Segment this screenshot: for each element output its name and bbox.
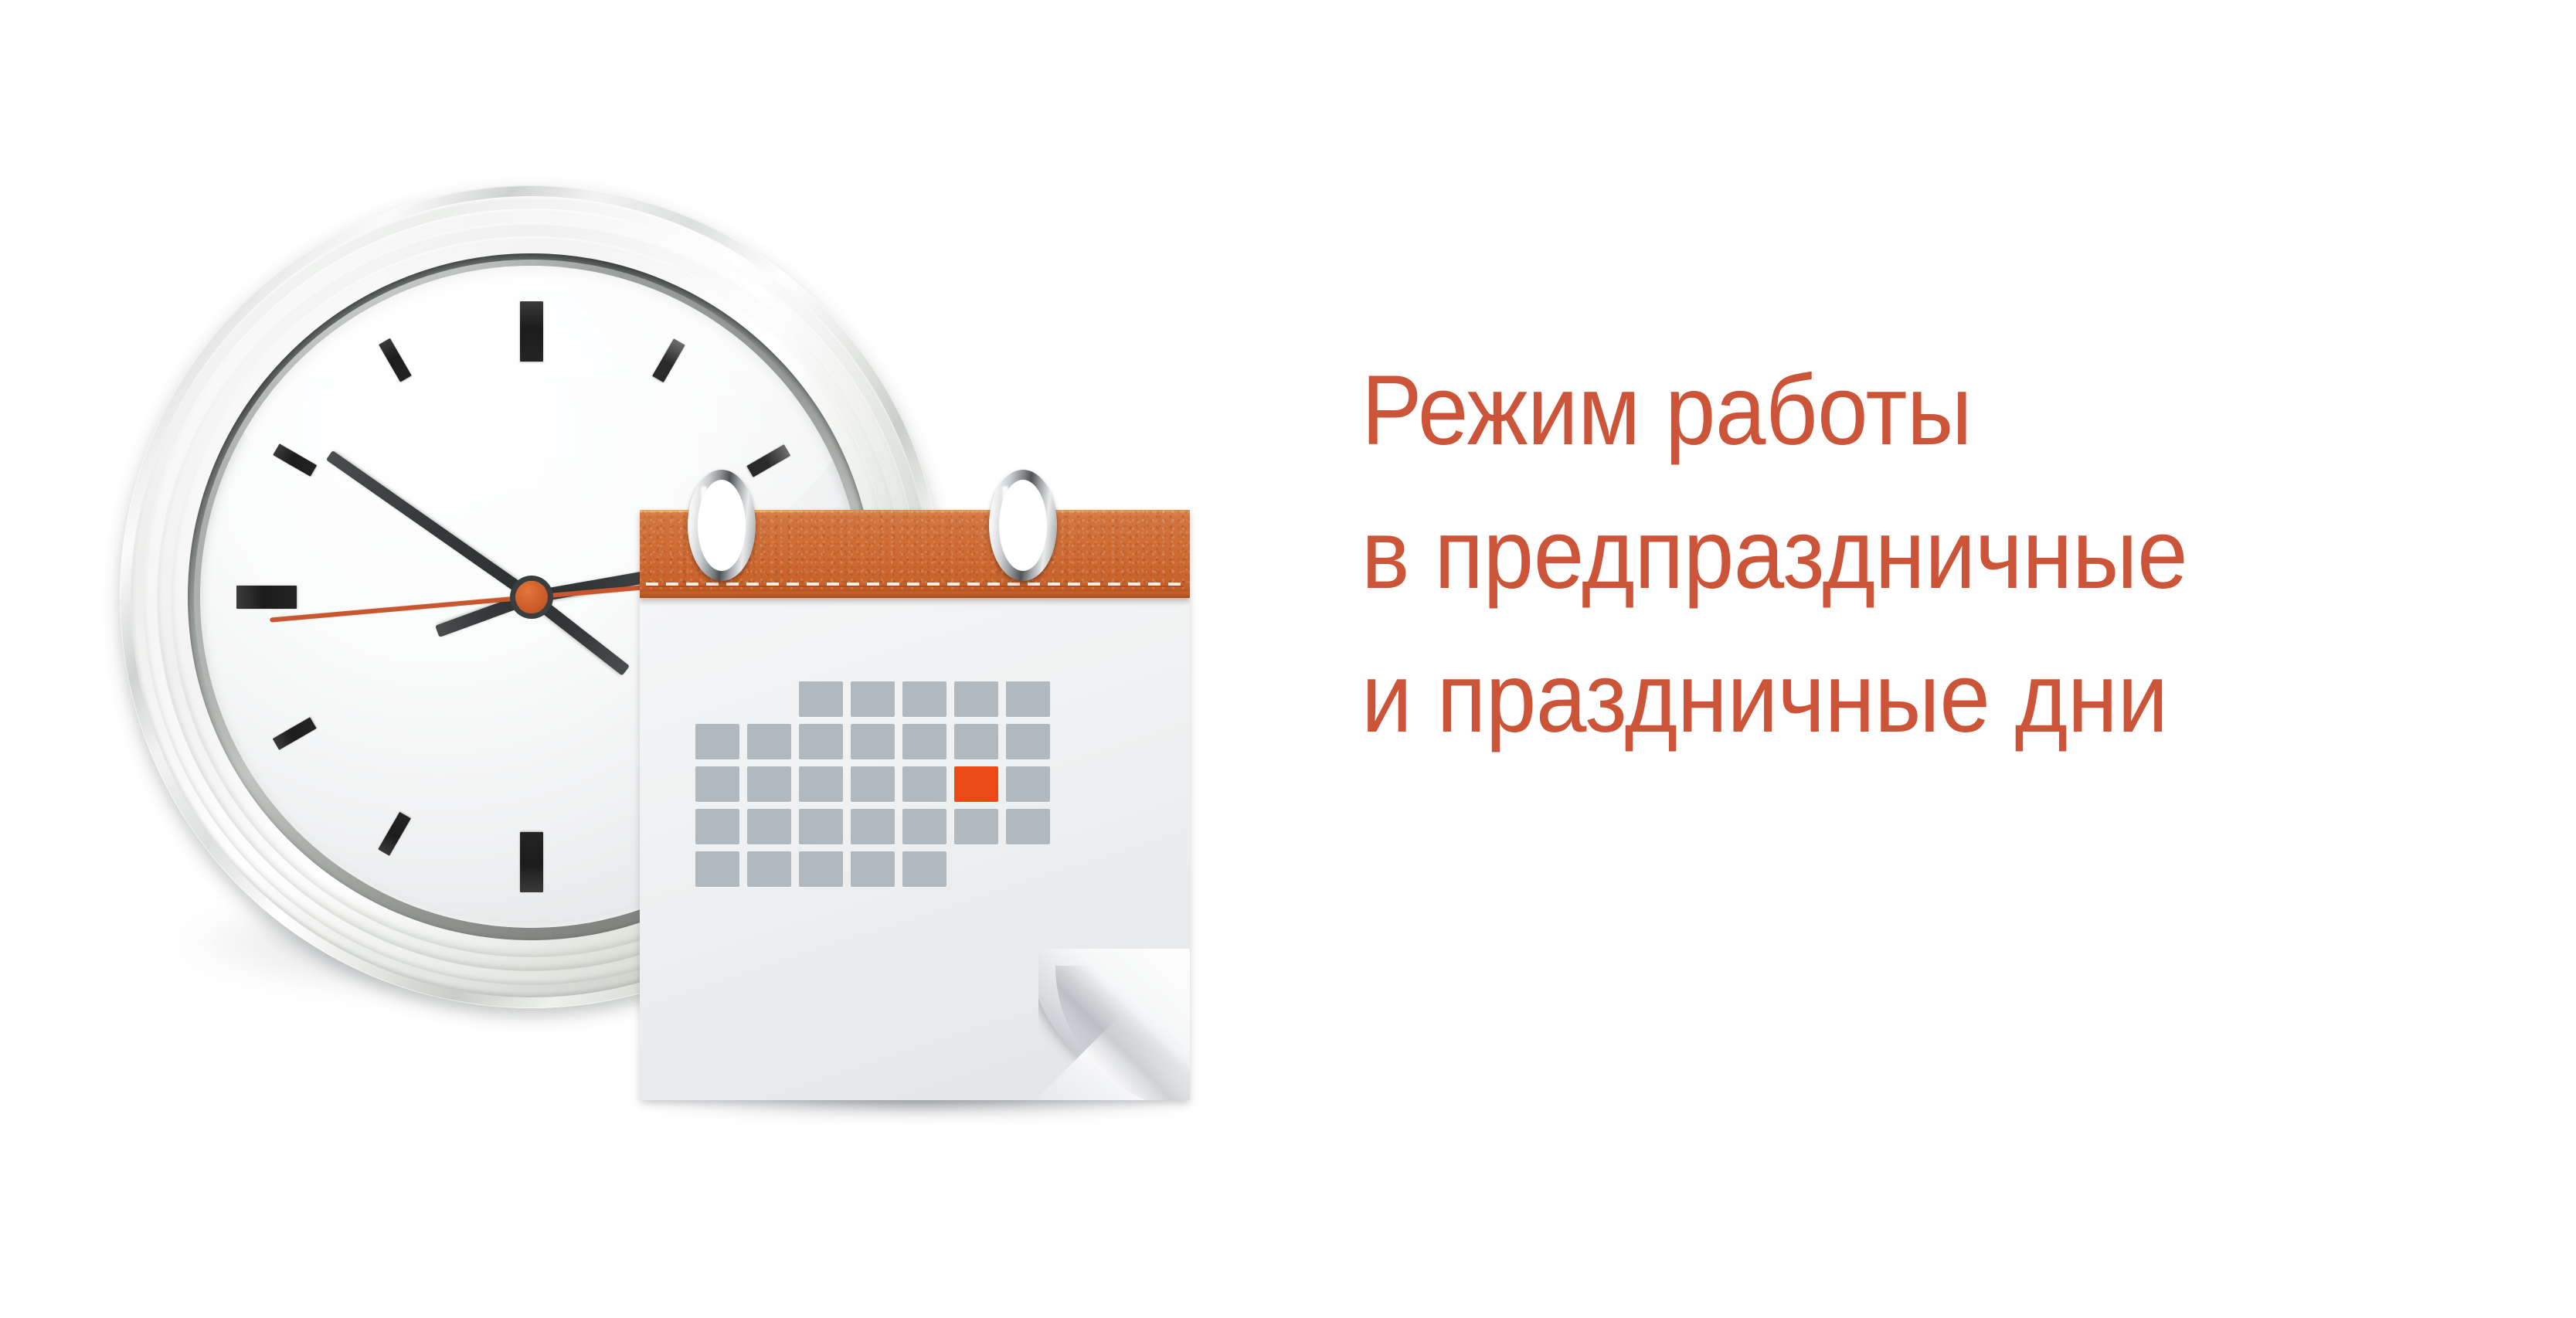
calendar-day-cell [902, 766, 946, 802]
calendar-ring-icon-right [989, 470, 1057, 581]
headline-block: Режим работы в предпраздничные и праздни… [1361, 349, 2459, 760]
calendar-day-cell [1006, 766, 1050, 802]
calendar-day-cell [747, 724, 791, 759]
calendar-day-cell [851, 724, 895, 759]
calendar-page-curl [1038, 949, 1190, 1100]
calendar-day-cell [799, 724, 843, 759]
calendar-day-cell [954, 724, 998, 759]
calendar-day-cell [799, 681, 843, 717]
headline-line-1: Режим работы [1361, 349, 2370, 473]
calendar-day-cell [902, 809, 946, 844]
headline-line-2: в предпраздничные [1361, 493, 2370, 617]
poster-canvas: Режим работы в предпраздничные и праздни… [0, 0, 2576, 1318]
calendar-day-cell [799, 851, 843, 887]
calendar-day-cell [1006, 809, 1050, 844]
calendar-stitching [646, 583, 1184, 586]
calendar-day-cell [851, 766, 895, 802]
calendar-day-cell [747, 809, 791, 844]
calendar-day-cell-highlighted [954, 766, 998, 802]
calendar-day-cell [695, 851, 739, 887]
calendar-day-cell [902, 724, 946, 759]
calendar-day-cell [695, 766, 739, 802]
calendar-page [640, 598, 1190, 1100]
calendar-day-cell [747, 851, 791, 887]
calendar-day-cell [747, 766, 791, 802]
calendar-day-cell [695, 809, 739, 844]
calendar-day-cell [851, 851, 895, 887]
calendar-day-cell [954, 681, 998, 717]
calendar-header-edge [640, 589, 1190, 598]
calendar-day-cell [902, 681, 946, 717]
calendar-day-cell [1006, 681, 1050, 717]
calendar-day-cell [954, 809, 998, 844]
calendar-day-cell [851, 681, 895, 717]
headline-line-3: и праздничные дни [1361, 637, 2370, 760]
calendar-day-cell [695, 724, 739, 759]
calendar-day-cell [1006, 724, 1050, 759]
calendar-day-cell [902, 851, 946, 887]
calendar-illustration [640, 510, 1190, 1120]
calendar-day-cell [799, 809, 843, 844]
calendar-day-cell [799, 766, 843, 802]
calendar-ring-icon-left [688, 470, 756, 581]
calendar-day-cell [851, 809, 895, 844]
clock-center-hub [515, 581, 548, 613]
calendar-page-curl-face [1038, 949, 1190, 1100]
